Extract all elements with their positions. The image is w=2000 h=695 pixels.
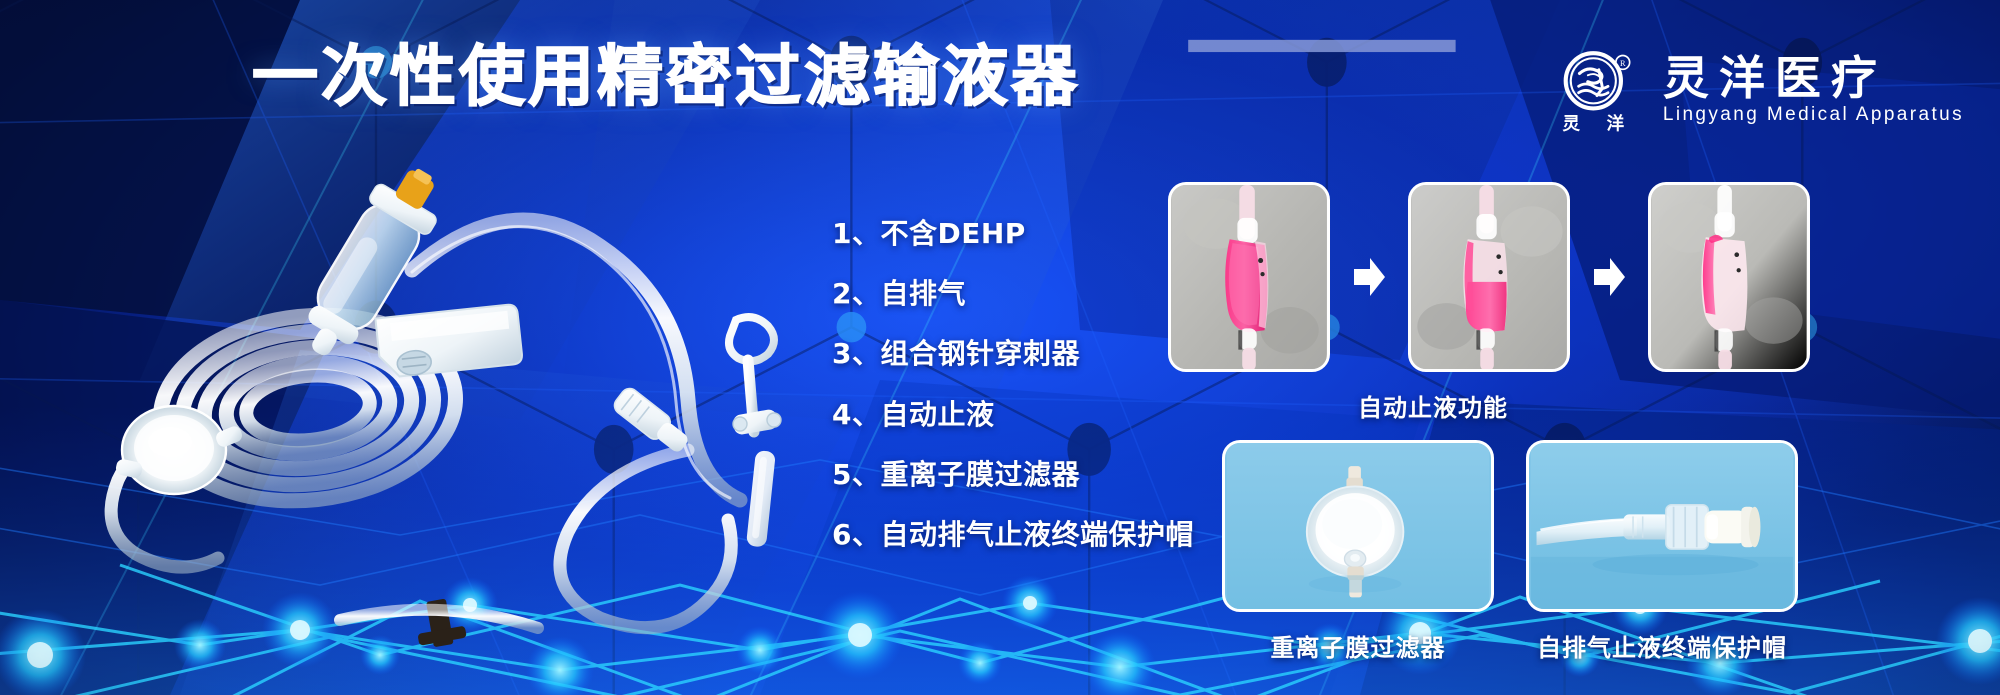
- feature-item-6: 6、自动排气止液终端保护帽: [832, 519, 1194, 551]
- pair-caption-cap: 自排气止液终端保护帽: [1537, 628, 1787, 663]
- drip-chamber-empty-photo: [1648, 182, 1810, 372]
- sequence-caption: 自动止液功能: [1168, 388, 1698, 423]
- drip-chamber-empty-svg: [1651, 185, 1807, 369]
- feature-item-1: 1、不含DEHP: [832, 218, 1194, 250]
- protective-cap-svg: [1529, 443, 1795, 609]
- hero-product-image: [40, 150, 800, 670]
- brand-text: 灵洋医疗 Lingyang Medical Apparatus: [1663, 54, 1964, 126]
- company-name-en: Lingyang Medical Apparatus: [1663, 104, 1964, 126]
- lingyang-seal-logo-icon: R 灵 洋: [1551, 44, 1643, 136]
- page-title: 一次性使用精密过滤输液器: [252, 44, 1080, 110]
- arrow-right-svg-2: [1592, 256, 1626, 298]
- arrow-right-icon-2: [1570, 247, 1648, 307]
- feature-item-5: 5、重离子膜过滤器: [832, 459, 1194, 491]
- pair-item-filter: 重离子膜过滤器: [1222, 440, 1494, 663]
- company-name-cn: 灵洋医疗: [1663, 54, 1964, 102]
- arrow-right-icon-1: [1330, 247, 1408, 307]
- feature-item-2: 2、自排气: [832, 278, 1194, 310]
- drip-chamber-partial-svg: [1411, 185, 1567, 369]
- arrow-right-svg-1: [1352, 256, 1386, 298]
- pair-caption-filter: 重离子膜过滤器: [1271, 628, 1446, 663]
- terminal-protective-cap-photo: [1526, 440, 1798, 612]
- product-banner: 一次性使用精密过滤输液器 R 灵 洋 灵洋医疗 Lingyang Medical…: [0, 0, 2000, 695]
- product-detail-pair: 重离子膜过滤器: [1222, 440, 1798, 663]
- seal-logo-svg: R 灵 洋: [1551, 44, 1643, 136]
- registered-mark: R: [1620, 59, 1626, 68]
- heavy-ion-membrane-filter-photo: [1222, 440, 1494, 612]
- drip-chamber-full-svg: [1171, 185, 1327, 369]
- iv-infusion-set-svg: [40, 150, 800, 670]
- seal-right-char: 洋: [1607, 114, 1625, 135]
- pair-item-cap: 自排气止液终端保护帽: [1526, 440, 1798, 663]
- brand-logo[interactable]: R 灵 洋 灵洋医疗 Lingyang Medical Apparatus: [1551, 44, 1964, 136]
- feature-item-3: 3、组合钢针穿刺器: [832, 338, 1194, 370]
- seal-left-char: 灵: [1562, 115, 1580, 135]
- drip-chamber-full-photo: [1168, 182, 1330, 372]
- feature-item-4: 4、自动止液: [832, 399, 1194, 431]
- drip-chamber-partial-photo: [1408, 182, 1570, 372]
- membrane-filter-svg: [1225, 443, 1491, 609]
- title-block: 一次性使用精密过滤输液器: [252, 44, 1080, 110]
- auto-stop-sequence: [1168, 182, 1810, 372]
- feature-list: 1、不含DEHP 2、自排气 3、组合钢针穿刺器 4、自动止液 5、重离子膜过滤…: [832, 218, 1194, 551]
